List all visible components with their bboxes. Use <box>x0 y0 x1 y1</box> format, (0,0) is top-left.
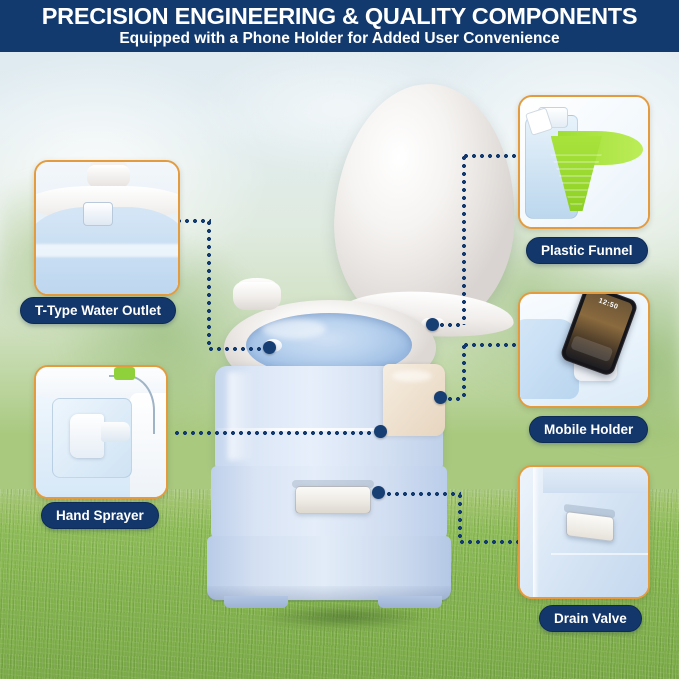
feature-card-hand-sprayer[interactable] <box>34 365 168 499</box>
feature-label-text: Mobile Holder <box>544 422 633 437</box>
feature-label-drain-valve[interactable]: Drain Valve <box>539 605 642 632</box>
t-type-outlet-port <box>83 202 113 226</box>
connector-mobile-holder-seg3 <box>446 397 464 401</box>
feature-label-text: T-Type Water Outlet <box>35 303 161 318</box>
connector-plastic-funnel-seg2 <box>462 154 466 325</box>
infographic-canvas: PRECISION ENGINEERING & QUALITY COMPONEN… <box>0 0 679 679</box>
drain-valve-handle <box>566 511 614 542</box>
connector-t-type-water-outlet-seg1 <box>175 219 211 223</box>
sprayer-green-accent <box>114 367 135 380</box>
connector-drain-valve-seg2 <box>458 492 462 542</box>
feature-label-text: Drain Valve <box>554 611 627 626</box>
feature-label-text: Plastic Funnel <box>541 243 633 258</box>
connector-drain-valve-seg1 <box>385 492 461 496</box>
header-title: PRECISION ENGINEERING & QUALITY COMPONEN… <box>0 3 679 30</box>
outlet-cap <box>87 165 130 189</box>
t-type-water-outlet-photo <box>36 162 178 294</box>
drain-tank-top <box>543 465 650 493</box>
connector-t-type-water-outlet-seg2 <box>207 219 211 349</box>
hand-sprayer-photo <box>36 367 166 497</box>
sprayer-nozzle <box>101 422 130 443</box>
connector-node-hand-sprayer <box>374 425 387 438</box>
tank-highlight <box>228 372 254 460</box>
connector-mobile-holder-seg2 <box>462 343 466 399</box>
tank-release-latch <box>295 486 371 514</box>
feature-label-mobile-holder[interactable]: Mobile Holder <box>529 416 648 443</box>
outlet-band <box>34 244 180 257</box>
mobile-holder-photo: 12:50 <box>520 294 648 406</box>
fill-cap <box>233 282 281 310</box>
feature-label-hand-sprayer[interactable]: Hand Sprayer <box>41 502 159 529</box>
header-subtitle: Equipped with a Phone Holder for Added U… <box>0 30 679 48</box>
connector-node-drain-valve <box>372 486 385 499</box>
connector-t-type-water-outlet-seg3 <box>207 347 269 351</box>
connector-plastic-funnel-seg3 <box>438 323 464 327</box>
feature-label-plastic-funnel[interactable]: Plastic Funnel <box>526 237 648 264</box>
connector-node-mobile-holder <box>434 391 447 404</box>
connector-mobile-holder-seg1 <box>462 343 518 347</box>
side-panel-highlight <box>392 370 432 382</box>
connector-drain-valve-seg3 <box>458 540 518 544</box>
feature-card-drain-valve[interactable] <box>518 465 650 599</box>
bowl-highlight <box>262 319 326 339</box>
header-banner: PRECISION ENGINEERING & QUALITY COMPONEN… <box>0 0 679 52</box>
feature-label-t-type-water-outlet[interactable]: T-Type Water Outlet <box>20 297 176 324</box>
drain-tank-seam <box>551 553 650 555</box>
drain-edge-highlight <box>533 467 539 597</box>
feature-card-plastic-funnel[interactable] <box>518 95 650 229</box>
feature-card-mobile-holder[interactable]: 12:50 <box>518 292 650 408</box>
base-foot-left <box>224 596 288 608</box>
connector-plastic-funnel-seg1 <box>462 154 518 158</box>
base-foot-right <box>378 596 442 608</box>
sprayer-handle <box>70 414 104 458</box>
connector-node-plastic-funnel <box>426 318 439 331</box>
feature-card-t-type-water-outlet[interactable] <box>34 160 180 296</box>
feature-label-text: Hand Sprayer <box>56 508 144 523</box>
connector-node-t-type-water-outlet <box>263 341 276 354</box>
connector-hand-sprayer-seg1 <box>173 431 381 435</box>
drain-valve-photo <box>520 467 648 597</box>
plastic-funnel-photo <box>520 97 648 227</box>
